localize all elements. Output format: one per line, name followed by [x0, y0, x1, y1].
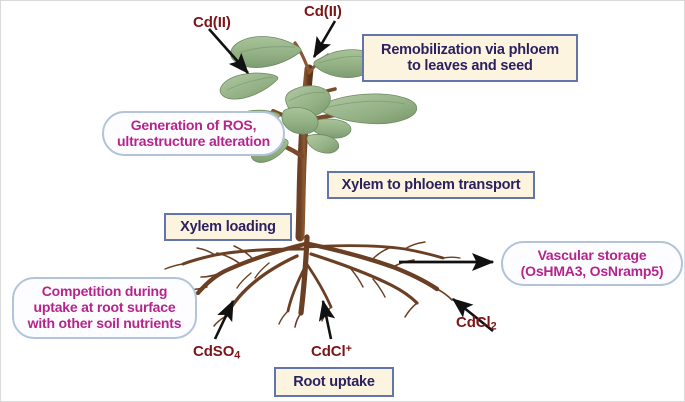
- callout-generation-of-ros[interactable]: Generation of ROS, ultrastructure altera…: [102, 111, 285, 156]
- root-system-icon: [165, 237, 460, 327]
- chem-label-cdcl2-base: CdCl: [456, 314, 491, 331]
- cadmium-plant-diagram: Remobilization via phloem to leaves and …: [0, 0, 685, 402]
- callout-competition-line2: uptake at root surface: [34, 299, 176, 315]
- callout-xylem-loading[interactable]: Xylem loading: [164, 213, 292, 241]
- callout-xylem-to-phloem-label: Xylem to phloem transport: [342, 177, 521, 193]
- callout-xylem-to-phloem-transport[interactable]: Xylem to phloem transport: [327, 171, 535, 199]
- chem-label-cdcl2: CdCl2: [456, 314, 497, 332]
- callout-competition-line3: with other soil nutrients: [28, 315, 182, 331]
- callout-ros-line2: ultrastructure alteration: [117, 133, 270, 149]
- chem-label-cdso4-subscript: 4: [234, 349, 240, 361]
- callout-remobilization-line2: to leaves and seed: [407, 58, 532, 74]
- arrow-icon-cd-right: [314, 21, 335, 57]
- callout-remobilization-line1: Remobilization via phloem: [381, 42, 559, 58]
- callout-vascular-storage-line1: Vascular storage: [538, 247, 647, 263]
- callout-root-uptake-label: Root uptake: [293, 374, 375, 390]
- callout-competition-line1: Competition during: [42, 283, 168, 299]
- callout-vascular-storage[interactable]: Vascular storage (OsHMA3, OsNramp5): [501, 241, 683, 286]
- chem-label-cdso4-base: CdSO: [193, 343, 234, 360]
- plant-illustration: [1, 1, 685, 402]
- callout-root-uptake[interactable]: Root uptake: [274, 367, 394, 397]
- chem-label-cd-right: Cd(II): [304, 3, 342, 20]
- chem-label-cdcl-plus: CdCl+: [311, 343, 352, 360]
- chem-label-cd-right-text: Cd(II): [304, 3, 342, 20]
- chem-label-cdcl2-subscript: 2: [491, 320, 497, 332]
- chem-label-cdcl-plus-superscript: +: [346, 343, 352, 355]
- chem-label-cdso4: CdSO4: [193, 343, 240, 361]
- callout-competition-during-uptake[interactable]: Competition during uptake at root surfac…: [12, 277, 197, 339]
- chem-label-cd-left-text: Cd(II): [193, 14, 231, 31]
- chem-label-cd-left: Cd(II): [193, 14, 231, 31]
- callout-xylem-loading-label: Xylem loading: [180, 219, 276, 235]
- callout-remobilization[interactable]: Remobilization via phloem to leaves and …: [362, 34, 578, 82]
- callout-vascular-storage-line2: (OsHMA3, OsNramp5): [521, 263, 664, 279]
- arrow-icon-cdso4: [215, 301, 233, 339]
- callout-ros-line1: Generation of ROS,: [131, 117, 257, 133]
- chem-label-cdcl-plus-base: CdCl: [311, 343, 346, 360]
